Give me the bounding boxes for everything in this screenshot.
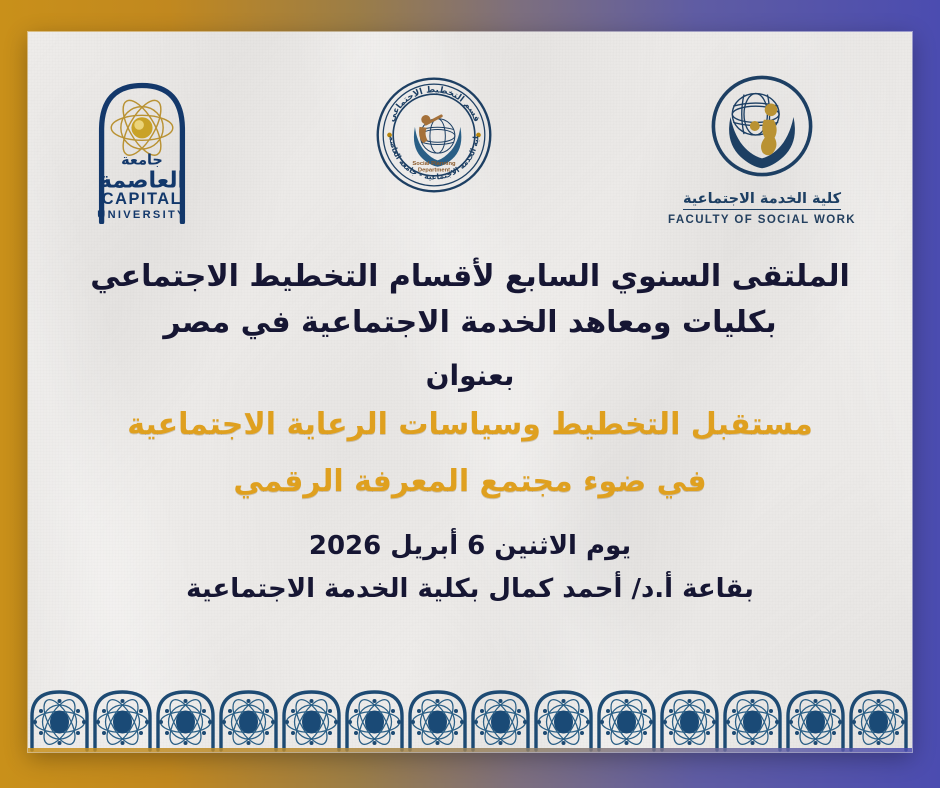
faculty-caption-english: FACULTY OF SOCIAL WORK [668, 214, 856, 226]
svg-text:CAPITAL: CAPITAL [102, 190, 182, 208]
svg-text:جامعة: جامعة [121, 152, 163, 168]
atom-arch-repeat-group [32, 692, 906, 750]
poster-gold-title-line1: مستقبل التخطيط وسياسات الرعاية الاجتماعي… [82, 402, 858, 449]
poster-venue: بقاعة أ.د/ أحمد كمال بكلية الخدمة الاجتم… [82, 570, 858, 609]
poster-gold-title-line2: في ضوء مجتمع المعرفة الرقمي [82, 459, 858, 506]
social-planning-department-seal: قسم التخطيط الاجتماعي كلية الخدمة الاجتم… [375, 72, 493, 194]
faculty-emblem-icon [708, 72, 816, 180]
capital-university-logo: جامعة العاصمة CAPITAL UNIVERSITY [84, 72, 200, 224]
svg-text:Department: Department [418, 167, 450, 173]
event-poster-card: كلية الخدمة الاجتماعية FACULTY OF SOCIAL… [28, 32, 912, 752]
faculty-logo-caption: كلية الخدمة الاجتماعية FACULTY OF SOCIAL… [668, 190, 856, 226]
band-base-line [28, 748, 912, 752]
faculty-caption-arabic: كلية الخدمة الاجتماعية [683, 192, 841, 210]
poster-date: يوم الاثنين 6 أبريل 2026 [82, 527, 858, 566]
poster-text-block: الملتقى السنوي السابع لأقسام التخطيط الا… [28, 254, 912, 609]
atom-arch-border [28, 686, 912, 752]
atom-arch-border-svg [28, 686, 912, 752]
svg-text:UNIVERSITY: UNIVERSITY [97, 209, 186, 221]
department-seal-icon: قسم التخطيط الاجتماعي كلية الخدمة الاجتم… [375, 76, 493, 194]
poster-main-heading-line1: الملتقى السنوي السابع لأقسام التخطيط الا… [82, 254, 858, 300]
capital-university-icon: جامعة العاصمة CAPITAL UNIVERSITY [84, 72, 200, 224]
logo-row: كلية الخدمة الاجتماعية FACULTY OF SOCIAL… [28, 72, 912, 262]
poster-main-heading-line2: بكليات ومعاهد الخدمة الاجتماعية في مصر [82, 300, 858, 346]
faculty-of-social-work-logo: كلية الخدمة الاجتماعية FACULTY OF SOCIAL… [668, 72, 856, 226]
svg-text:Social Planning: Social Planning [412, 161, 456, 167]
poster-content: كلية الخدمة الاجتماعية FACULTY OF SOCIAL… [28, 32, 912, 752]
poster-subtitle-label: بعنوان [82, 359, 858, 392]
